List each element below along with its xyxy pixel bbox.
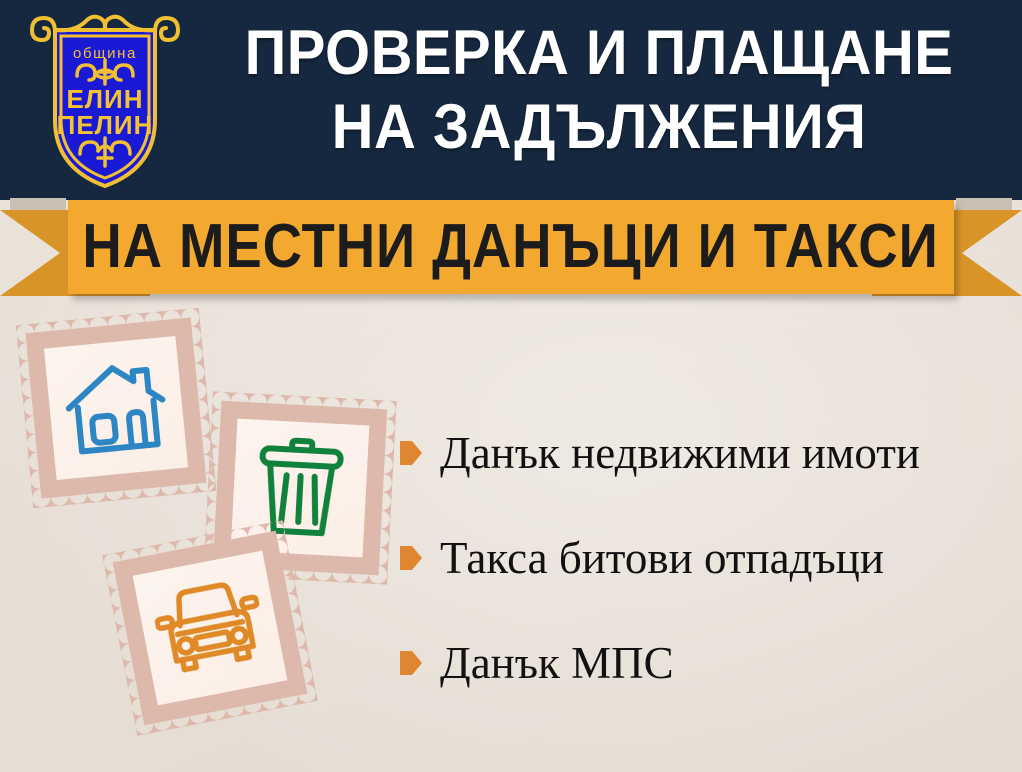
poster-canvas: община ЕЛИН ПЕЛИН ПРОВЕРКА И ПЛАЩАНЕ НА … [0,0,1022,772]
ribbon-main-panel: НА МЕСТНИ ДАНЪЦИ И ТАКСИ [68,200,954,294]
page-title-line-1: ПРОВЕРКА И ПЛАЩАНЕ [223,16,976,90]
arrow-bullet-icon [400,651,422,675]
stamp-card-house [16,308,217,509]
arrow-bullet-icon [400,546,422,570]
list-item-label: Данък МПС [440,638,674,688]
coat-of-arms-icon: община ЕЛИН ПЕЛИН [22,8,188,192]
stamp-inner-car [133,551,288,706]
tax-type-list: Данък недвижими имоти Такса битови отпад… [400,424,1000,739]
page-title-line-2: НА ЗАДЪЛЖЕНИЯ [223,90,976,164]
list-item-label: Данък недвижими имоти [440,428,920,478]
list-item[interactable]: Данък МПС [400,634,1000,692]
list-item[interactable]: Такса битови отпадъци [400,529,1000,587]
house-icon [60,355,173,461]
list-item-label: Такса битови отпадъци [440,533,884,583]
stamp-inner-house [44,336,188,480]
list-item[interactable]: Данък недвижими имоти [400,424,1000,482]
ribbon-banner: НА МЕСТНИ ДАНЪЦИ И ТАКСИ [0,198,1022,308]
arrow-bullet-icon [400,441,422,465]
svg-text:община: община [73,45,137,62]
stamp-card-car [102,520,318,736]
ribbon-fold-right [956,198,1012,212]
car-front-icon [149,573,271,684]
svg-text:ПЕЛИН: ПЕЛИН [57,110,154,140]
header-title-block: ПРОВЕРКА И ПЛАЩАНЕ НА ЗАДЪЛЖЕНИЯ [190,16,1008,164]
header-bar: община ЕЛИН ПЕЛИН ПРОВЕРКА И ПЛАЩАНЕ НА … [0,0,1022,200]
ribbon-subtitle: НА МЕСТНИ ДАНЪЦИ И ТАКСИ [83,216,939,278]
ribbon-fold-left [10,198,66,212]
